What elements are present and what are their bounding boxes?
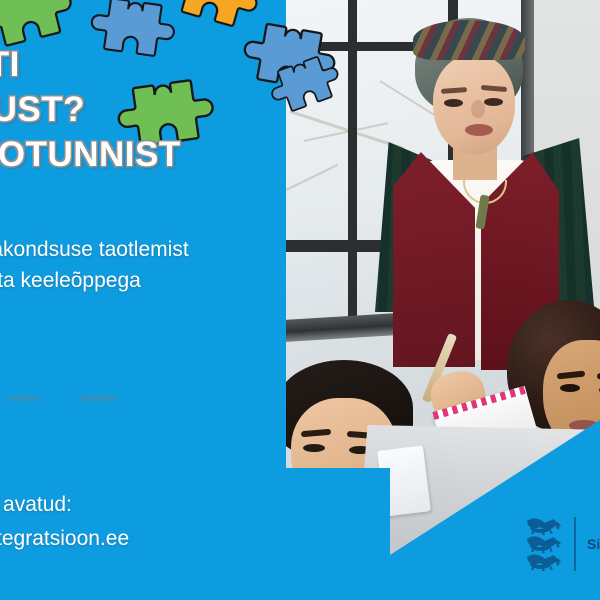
registration-url: dus.integratsioon.ee (0, 522, 310, 556)
photo-woman-headband (413, 20, 525, 60)
ministry-name: Si (587, 536, 600, 552)
logo-divider (574, 517, 576, 571)
cropped-partner-logo-remnant (8, 396, 126, 401)
headline-line-1: ESTI (0, 42, 270, 87)
registration-label: rimine avatud: (0, 488, 310, 522)
headline-line-2: OSUST? (0, 87, 270, 132)
photo-woman-mouth (465, 124, 493, 136)
estonian-coat-of-arms-icon (523, 515, 563, 573)
ministry-logo: Si (523, 515, 600, 573)
benefit-list: a kodakondsuse taotlemist a tasuta keele… (0, 234, 300, 327)
registration-info: rimine avatud: dus.integratsioon.ee (0, 488, 310, 556)
poster-canvas: ESTI OSUST? INFOTUNNIST a kodakondsuse t… (0, 0, 600, 600)
headline-line-3: INFOTUNNIST (0, 132, 270, 177)
benefit-item-2: a tasuta keeleõppega (0, 265, 300, 296)
benefit-item-3: ja nõu (0, 296, 300, 327)
benefit-item-1: a kodakondsuse taotlemist (0, 234, 300, 265)
page-title: ESTI OSUST? INFOTUNNIST (0, 42, 270, 177)
